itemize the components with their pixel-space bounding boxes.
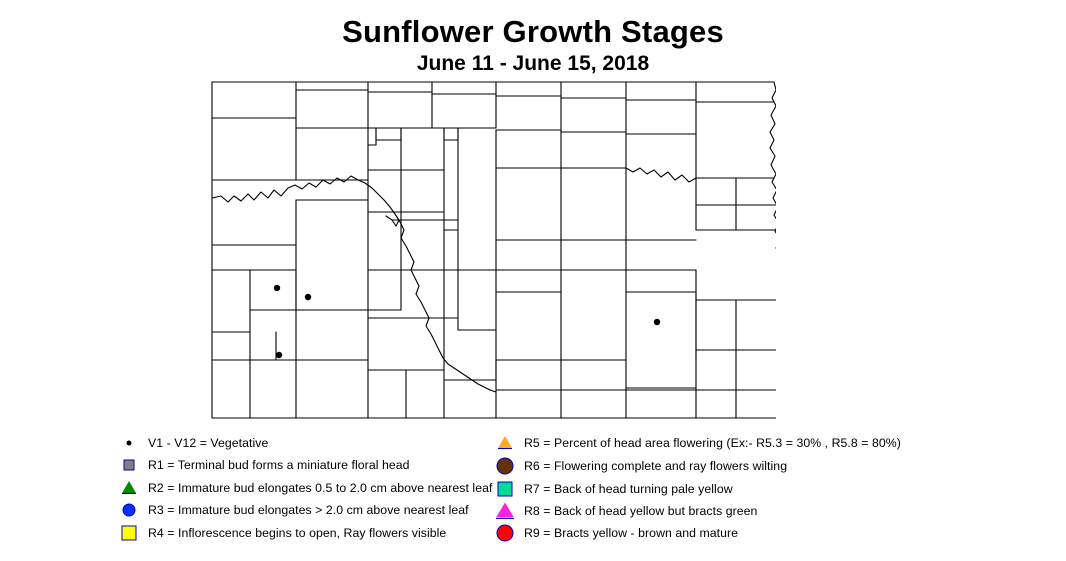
black-dot-marker bbox=[118, 433, 140, 453]
legend-label: R6 = Flowering complete and ray flowers … bbox=[524, 460, 787, 472]
survey-point bbox=[654, 319, 660, 325]
survey-point bbox=[305, 294, 311, 300]
legend-label: R4 = Inflorescence begins to open, Ray f… bbox=[148, 527, 446, 539]
legend-item-r7: R7 = Back of head turning pale yellow bbox=[494, 478, 733, 500]
survey-point bbox=[276, 352, 282, 358]
legend-label: R1 = Terminal bud forms a miniature flor… bbox=[148, 459, 410, 471]
legend-item-r6: R6 = Flowering complete and ray flowers … bbox=[494, 455, 787, 477]
legend-label: R3 = Immature bud elongates > 2.0 cm abo… bbox=[148, 504, 469, 516]
blue-circle-marker bbox=[118, 500, 140, 520]
magenta-triangle-marker bbox=[494, 501, 516, 521]
legend-item-r2: R2 = Immature bud elongates 0.5 to 2.0 c… bbox=[118, 477, 492, 499]
legend-item-r4: R4 = Inflorescence begins to open, Ray f… bbox=[118, 522, 446, 544]
north-dakota-county-map bbox=[196, 70, 776, 430]
legend-item-r8: R8 = Back of head yellow but bracts gree… bbox=[494, 500, 757, 522]
legend-item-r5: R5 = Percent of head area flowering (Ex:… bbox=[494, 432, 901, 454]
legend-label: V1 - V12 = Vegetative bbox=[148, 437, 268, 449]
legend-label: R5 = Percent of head area flowering (Ex:… bbox=[524, 437, 901, 449]
brown-circle-marker bbox=[494, 456, 516, 476]
map-svg bbox=[196, 70, 776, 430]
green-triangle-marker bbox=[118, 478, 140, 498]
survey-point bbox=[274, 285, 280, 291]
county-boundaries bbox=[212, 82, 776, 418]
legend-label: R2 = Immature bud elongates 0.5 to 2.0 c… bbox=[148, 482, 492, 494]
gray-square-marker bbox=[118, 455, 140, 475]
orange-triangle-marker bbox=[494, 433, 516, 453]
legend-item-r9: R9 = Bracts yellow - brown and mature bbox=[494, 522, 738, 544]
legend-item-r3: R3 = Immature bud elongates > 2.0 cm abo… bbox=[118, 499, 469, 521]
legend: V1 - V12 = Vegetative R1 = Terminal bud … bbox=[0, 430, 1066, 550]
red-circle-marker bbox=[494, 523, 516, 543]
missouri-river bbox=[395, 214, 496, 392]
legend-label: R8 = Back of head yellow but bracts gree… bbox=[524, 505, 757, 517]
springgreen-square-marker bbox=[494, 479, 516, 499]
legend-label: R9 = Bracts yellow - brown and mature bbox=[524, 527, 738, 539]
lake-sakakawea bbox=[212, 176, 399, 226]
yellow-square-marker bbox=[118, 523, 140, 543]
survey-points bbox=[274, 285, 660, 358]
legend-item-r1: R1 = Terminal bud forms a miniature flor… bbox=[118, 454, 410, 476]
page-title: Sunflower Growth Stages June 11 - June 1… bbox=[0, 16, 1066, 76]
legend-label: R7 = Back of head turning pale yellow bbox=[524, 483, 733, 495]
sunflower-growth-stages-map-page: Sunflower Growth Stages June 11 - June 1… bbox=[0, 0, 1066, 561]
legend-item-v: V1 - V12 = Vegetative bbox=[118, 432, 268, 454]
title-main: Sunflower Growth Stages bbox=[0, 16, 1066, 49]
state-boundary bbox=[212, 82, 776, 418]
